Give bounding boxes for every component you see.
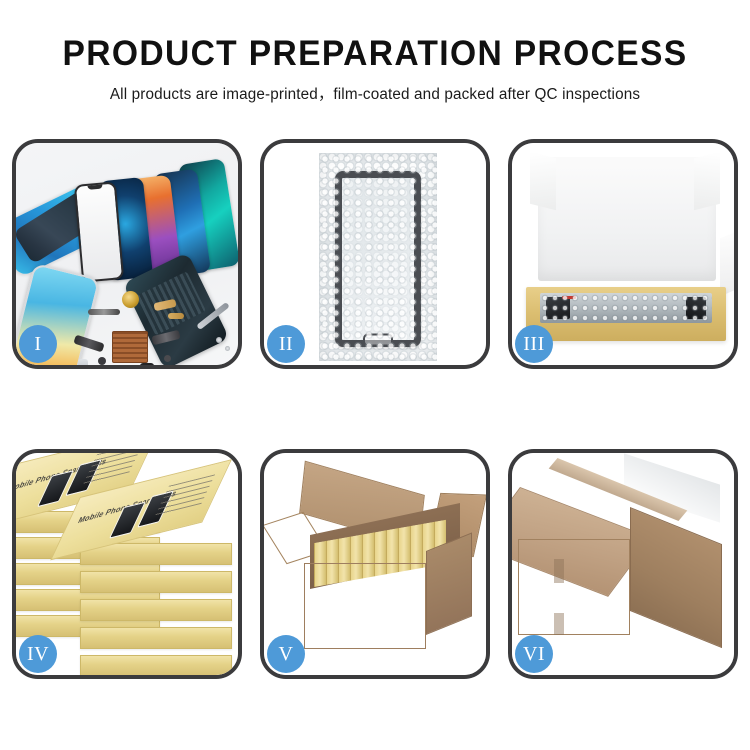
step-badge-1: I [19, 325, 57, 363]
flex-ribbon-small-part-icon [168, 313, 184, 319]
screw-2-icon [225, 346, 230, 351]
process-step-grid: I II [12, 139, 738, 679]
process-step-panel-1: I [12, 139, 242, 369]
product-preparation-infographic: PRODUCT PREPARATION PROCESS All products… [0, 0, 750, 750]
carton-seam-top-icon [554, 559, 564, 583]
process-step-panel-4: Mobile Phone Spare Parts [12, 449, 242, 679]
step-badge-3: III [515, 325, 553, 363]
step-badge-6: VI [515, 635, 553, 673]
box-spec-lines [82, 453, 143, 486]
box-stack: Mobile Phone Spare Parts [16, 467, 238, 667]
metal-strip-part-icon [88, 309, 120, 315]
step-badge-4: IV [19, 635, 57, 673]
process-step-panel-3: III [508, 139, 738, 369]
charging-coil-part-icon [122, 291, 139, 308]
process-step-panel-6: VI [508, 449, 738, 679]
carton-front-panel-icon [304, 563, 426, 649]
speaker-part-icon [140, 363, 154, 365]
header: PRODUCT PREPARATION PROCESS All products… [0, 0, 750, 104]
process-step-panel-5: V [260, 449, 490, 679]
screen-dark-area-2-icon [686, 297, 706, 319]
screen-dark-area-icon [546, 297, 570, 319]
sealed-carton-front-icon [518, 539, 630, 635]
box-spec-lines-2 [154, 474, 215, 517]
small-part-2-icon [164, 355, 171, 362]
foam-flap-right-icon [694, 152, 720, 210]
connector-grid-part-icon [112, 331, 148, 363]
bubble-wrap-sheet-icon [319, 153, 437, 361]
step-badge-5: V [267, 635, 305, 673]
red-label-icon [562, 296, 576, 299]
step-badge-2: II [267, 325, 305, 363]
foam-flap-left-icon [530, 152, 556, 210]
phone-glass-panel-icon [335, 171, 421, 347]
screw-icon [216, 337, 222, 343]
foam-padding-icon [538, 157, 716, 281]
kraft-box-tray-icon [526, 287, 726, 341]
button-part-icon [78, 359, 88, 365]
page-subtitle: All products are image-printed，film-coat… [6, 73, 745, 104]
kraft-box-printed-lid-2: Mobile Phone Spare Parts [80, 497, 232, 553]
page-title: PRODUCT PREPARATION PROCESS [15, 0, 735, 73]
phone-white-frame-icon [74, 181, 124, 282]
small-part-icon [98, 357, 106, 365]
process-step-panel-2: II [260, 139, 490, 369]
wrapped-screen-in-box-icon [540, 293, 712, 323]
carton-seam-bottom-icon [554, 613, 564, 635]
